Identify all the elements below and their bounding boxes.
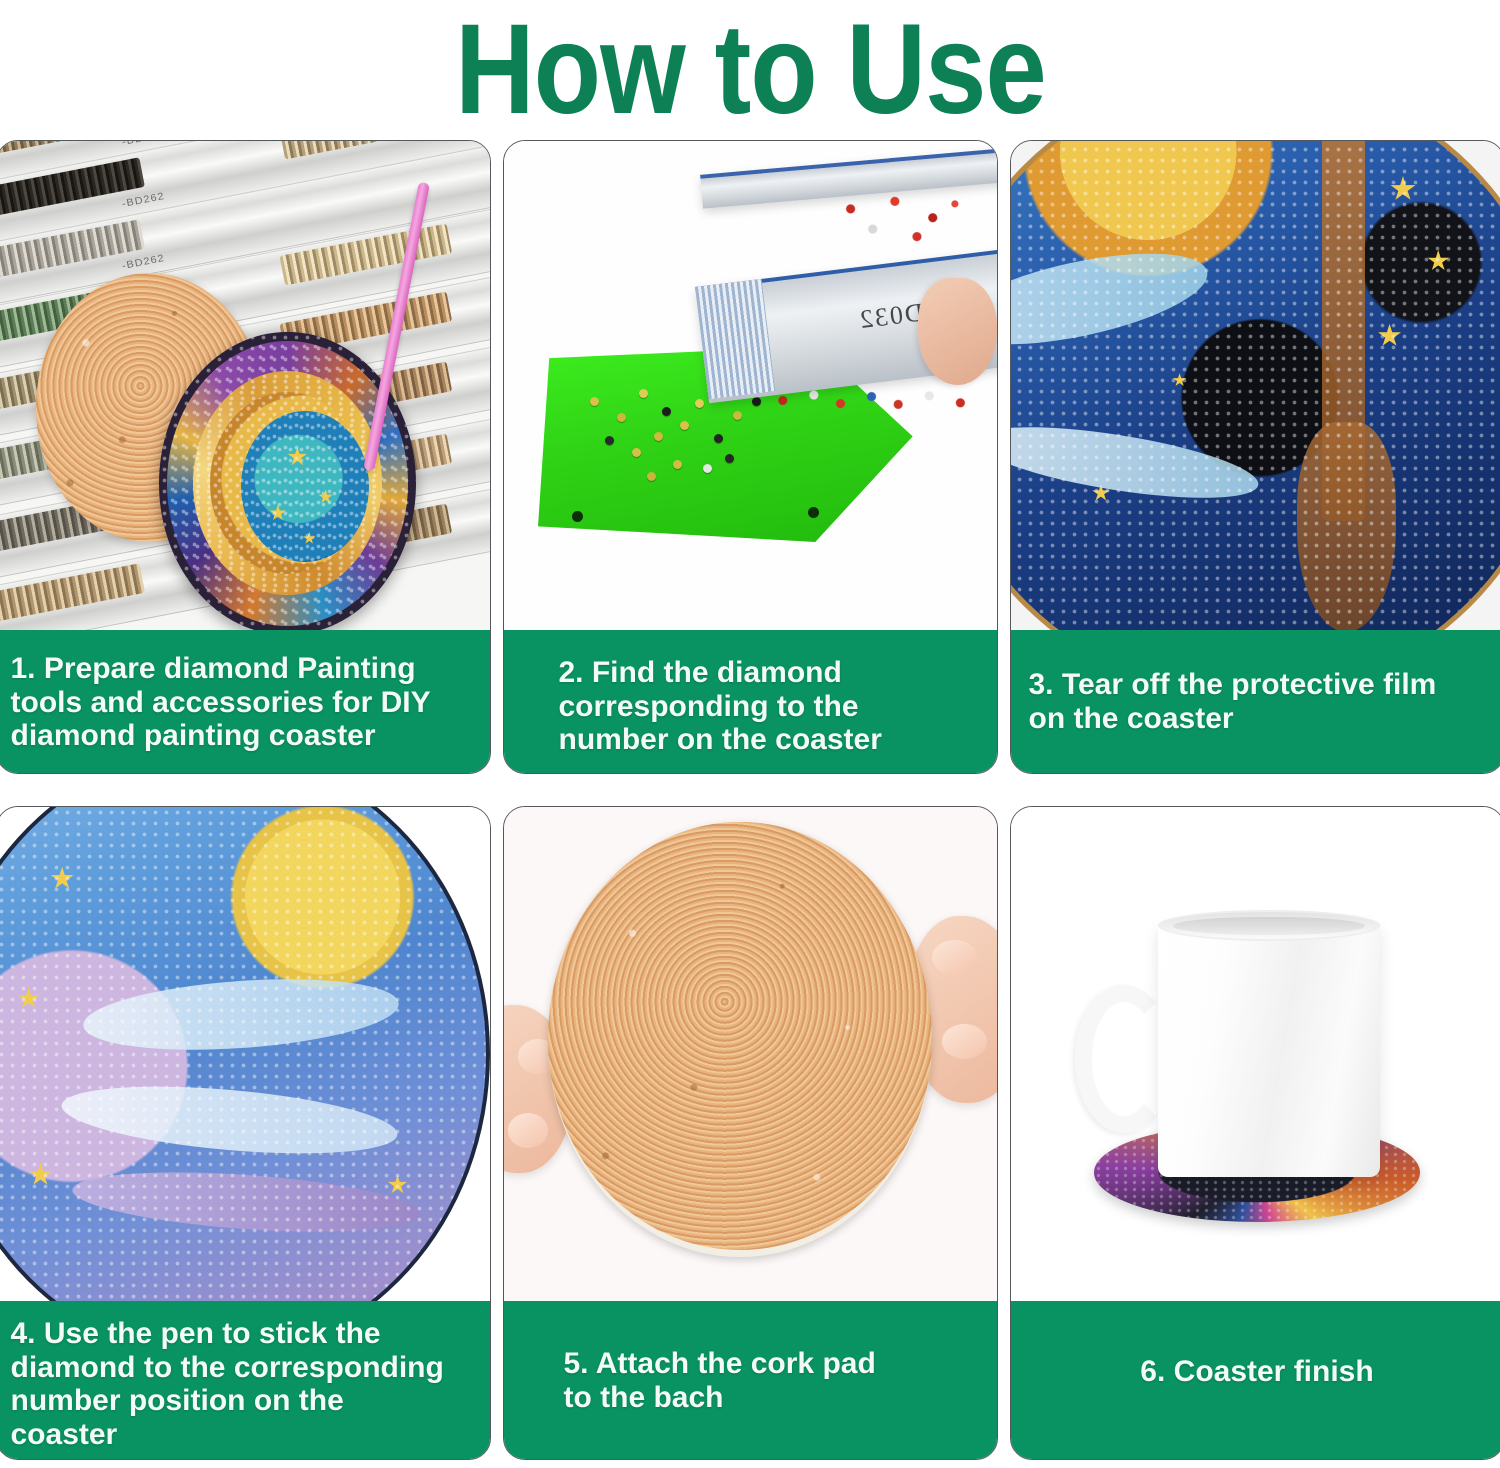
bead bbox=[662, 407, 671, 416]
steps-grid: -BD262 -BD262 -BD262 -BD262 -BD262 bbox=[0, 140, 1500, 1468]
bead bbox=[632, 448, 641, 457]
step-card-5: 5. Attach the cork pad to the bach bbox=[503, 806, 998, 1460]
bead bbox=[733, 411, 742, 420]
crescent-moon-motif bbox=[210, 392, 364, 574]
cork-pad bbox=[548, 822, 933, 1257]
step-photo-2: 16 BD032 bbox=[504, 141, 997, 630]
star-motif bbox=[388, 1175, 408, 1195]
step-caption-2: 2. Find the diamond corresponding to the… bbox=[504, 630, 997, 773]
header: How to Use bbox=[0, 0, 1500, 140]
bead bbox=[590, 397, 599, 406]
bead bbox=[680, 421, 689, 430]
tassel-brush bbox=[1297, 422, 1396, 630]
star-motif bbox=[1390, 176, 1416, 202]
star-motif bbox=[1173, 373, 1187, 387]
bead bbox=[647, 472, 656, 481]
star-motif bbox=[287, 447, 307, 467]
bead bbox=[752, 397, 761, 406]
step-caption-6: 6. Coaster finish bbox=[1011, 1301, 1500, 1459]
bag-label: -BD262 bbox=[122, 191, 167, 210]
coaster-closeup bbox=[0, 807, 490, 1301]
cloud-band bbox=[1011, 413, 1263, 512]
spilled-beads bbox=[819, 190, 977, 254]
star-motif bbox=[1092, 484, 1110, 502]
tassel-cord bbox=[1322, 141, 1365, 521]
bead bbox=[703, 464, 712, 473]
cloud-band bbox=[1011, 236, 1215, 363]
fingernail bbox=[942, 1024, 986, 1059]
wave-band bbox=[70, 1163, 421, 1242]
step-card-2: 16 BD032 2. Find the diamond correspondi… bbox=[503, 140, 998, 774]
step-caption-5: 5. Attach the cork pad to the bach bbox=[504, 1301, 997, 1459]
finished-coaster-closeup bbox=[1011, 141, 1500, 630]
coaster-mid-ring bbox=[193, 371, 383, 595]
fingernail bbox=[508, 1113, 547, 1148]
step-photo-6 bbox=[1011, 807, 1500, 1301]
bag-label: -BD262 bbox=[122, 253, 167, 272]
step-caption-1: 1. Prepare diamond Painting tools and ac… bbox=[0, 630, 490, 773]
step-caption-3: 3. Tear off the protective film on the c… bbox=[1011, 630, 1500, 773]
step-photo-1: -BD262 -BD262 -BD262 -BD262 -BD262 bbox=[0, 141, 490, 630]
hand bbox=[918, 278, 997, 386]
bead bbox=[617, 413, 626, 422]
page-title: How to Use bbox=[455, 6, 1046, 134]
star-motif bbox=[269, 505, 286, 522]
fingernail bbox=[932, 940, 976, 975]
cloud-band bbox=[59, 1076, 400, 1166]
bead bbox=[639, 389, 648, 398]
bead bbox=[714, 434, 723, 443]
finished-coaster bbox=[159, 332, 415, 630]
mug-rim bbox=[1158, 910, 1380, 941]
step-photo-4 bbox=[0, 807, 490, 1301]
step-caption-4: 4. Use the pen to stick the diamond to t… bbox=[0, 1301, 490, 1459]
bead bbox=[654, 432, 663, 441]
bead bbox=[673, 460, 682, 469]
bead bbox=[695, 399, 704, 408]
night-sky-motif bbox=[241, 411, 369, 563]
bead bbox=[725, 454, 734, 463]
star-motif bbox=[18, 988, 40, 1010]
star-motif bbox=[28, 1163, 52, 1187]
cloud-band bbox=[81, 971, 400, 1059]
star-motif bbox=[1378, 324, 1402, 348]
step-card-4: 4. Use the pen to stick the diamond to t… bbox=[0, 806, 491, 1460]
bag-zip bbox=[695, 279, 776, 400]
tray-hole bbox=[808, 507, 819, 518]
star-motif bbox=[303, 532, 316, 545]
mug-body bbox=[1158, 921, 1380, 1178]
star-motif bbox=[50, 867, 74, 891]
star-motif bbox=[318, 489, 333, 504]
step-photo-5 bbox=[504, 807, 997, 1301]
star-motif bbox=[1427, 250, 1449, 272]
step-card-3: 3. Tear off the protective film on the c… bbox=[1010, 140, 1500, 774]
step-card-1: -BD262 -BD262 -BD262 -BD262 -BD262 bbox=[0, 140, 491, 774]
bead bbox=[605, 436, 614, 445]
step-photo-3 bbox=[1011, 141, 1500, 630]
mug-interior bbox=[1173, 917, 1365, 936]
tray-hole bbox=[572, 511, 583, 522]
bead-cluster bbox=[0, 563, 146, 630]
step-card-6: 6. Coaster finish bbox=[1010, 806, 1500, 1460]
coaster-outer-ring bbox=[167, 341, 408, 626]
